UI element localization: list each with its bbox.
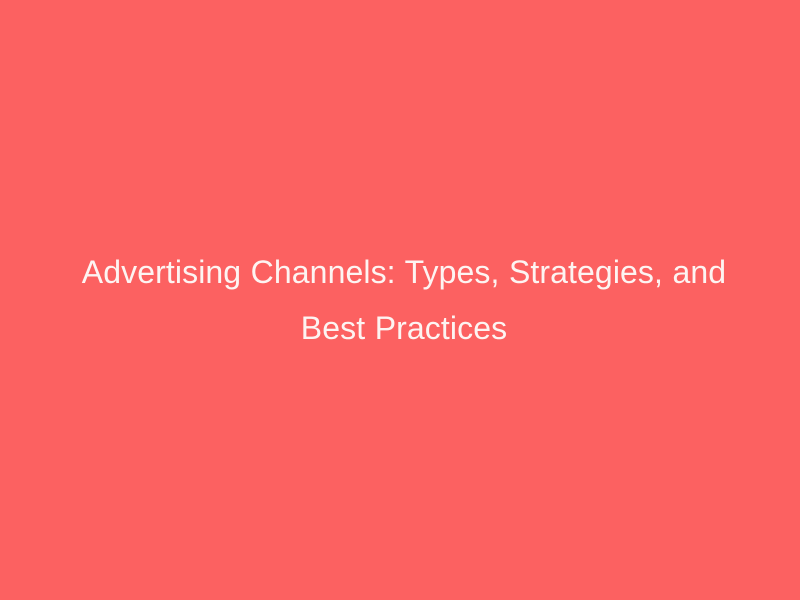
page-title: Advertising Channels: Types, Strategies,…	[54, 244, 754, 356]
article-header-card: Advertising Channels: Types, Strategies,…	[0, 0, 800, 600]
